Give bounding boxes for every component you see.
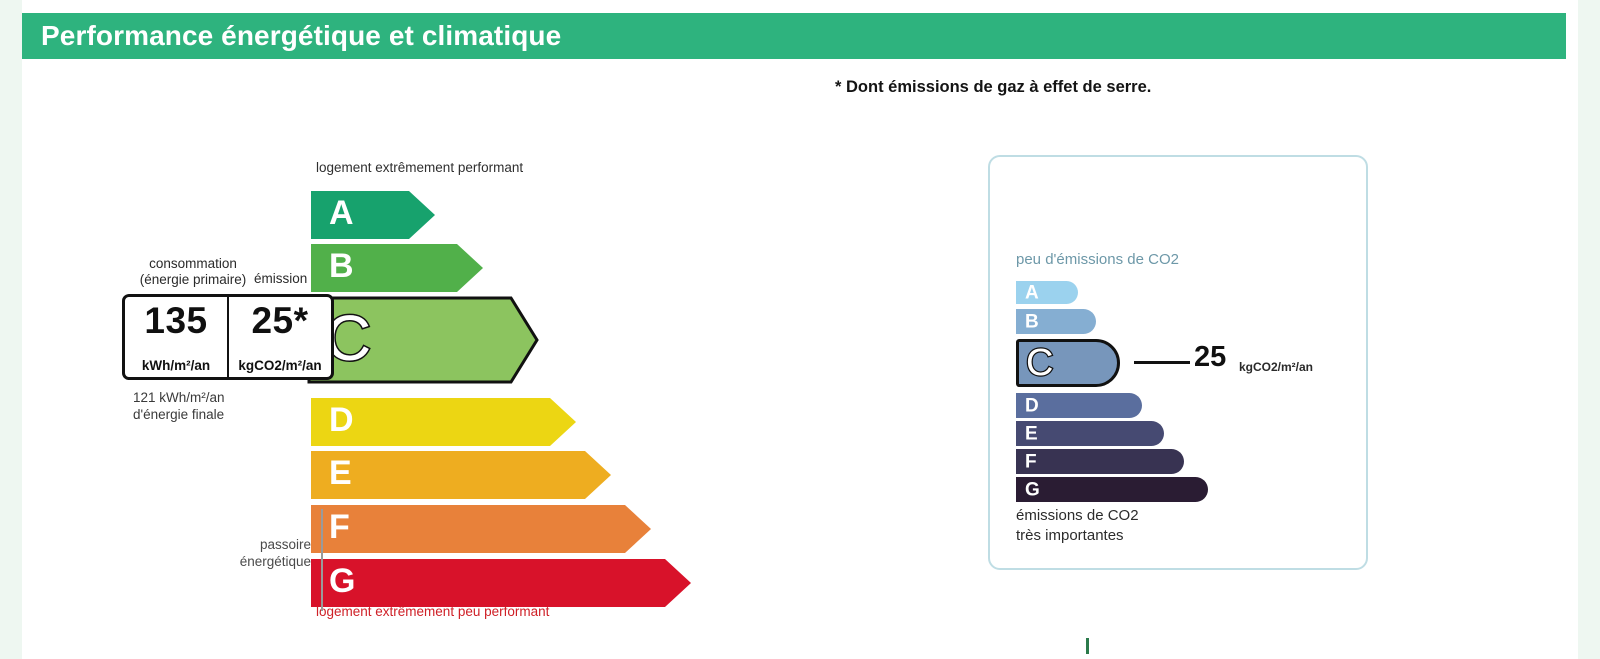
energy-band-e[interactable]: E	[309, 449, 609, 497]
primary-energy-cell: 135 kWh/m²/an	[125, 297, 227, 377]
bottom-mark	[1086, 638, 1089, 654]
ladder-caption-top: logement extrêmement performant	[316, 160, 523, 175]
co2-bar-letter-c: C	[1026, 344, 1053, 382]
passoire-bracket-line	[321, 509, 323, 611]
co2-bar-g[interactable]: G	[1016, 477, 1208, 502]
co2-bar-a[interactable]: A	[1016, 281, 1078, 304]
co2-caption-bottom: émissions de CO2 très importantes	[1016, 506, 1139, 545]
co2-caption-bottom-line1: émissions de CO2	[1016, 506, 1139, 526]
consumption-header: consommation (énergie primaire)	[128, 256, 258, 289]
co2-bar-letter-e: E	[1025, 424, 1038, 443]
energy-band-shape-b	[309, 242, 485, 294]
co2-bar-f[interactable]: F	[1016, 449, 1184, 474]
emission-unit: kgCO2/m²/an	[238, 358, 321, 373]
co2-bar-letter-d: D	[1025, 396, 1039, 415]
final-energy-line2: d'énergie finale	[133, 406, 225, 423]
passoire-label: passoire énergétique	[207, 536, 311, 571]
energy-band-f[interactable]: F	[309, 503, 649, 551]
co2-bar-letter-a: A	[1025, 283, 1039, 302]
energy-band-shape-g	[309, 557, 693, 609]
emission-header: émission	[254, 271, 307, 286]
energy-band-b[interactable]: B	[309, 242, 481, 290]
final-energy-line1: 121 kWh/m²/an	[133, 389, 225, 406]
energy-band-c[interactable]: C	[307, 296, 535, 380]
energy-band-shape-f	[309, 503, 653, 555]
ladder-caption-bottom: logement extrêmement peu performant	[316, 604, 549, 619]
passoire-label-line1: passoire	[207, 536, 311, 553]
energy-band-d[interactable]: D	[309, 396, 574, 444]
co2-bar-letter-g: G	[1025, 480, 1040, 499]
consumption-value-box: 135 kWh/m²/an 25* kgCO2/m²/an	[122, 294, 334, 380]
co2-bar-letter-f: F	[1025, 452, 1037, 471]
energy-band-a[interactable]: A	[309, 189, 433, 237]
emission-value: 25*	[251, 300, 308, 341]
energy-class-ladder: logement extrêmement performant ABCDEFG …	[22, 0, 782, 659]
final-energy-note: 121 kWh/m²/an d'énergie finale	[133, 389, 225, 424]
co2-caption-bottom-line2: très importantes	[1016, 526, 1139, 546]
dpe-sheet: Performance énergétique et climatique * …	[22, 0, 1578, 659]
co2-value-unit: kgCO2/m²/an	[1239, 360, 1313, 374]
co2-bar-b[interactable]: B	[1016, 309, 1096, 334]
co2-bar-letter-b: B	[1025, 312, 1039, 331]
co2-leader-line	[1134, 361, 1190, 364]
greenhouse-gas-footnote: * Dont émissions de gaz à effet de serre…	[835, 78, 1151, 97]
energy-band-shape-e	[309, 449, 613, 501]
consumption-header-line2: (énergie primaire)	[128, 272, 258, 288]
energy-band-shape-a	[309, 189, 437, 241]
energy-band-shape-d	[309, 396, 578, 448]
co2-caption-top: peu d'émissions de CO2	[1016, 251, 1179, 268]
primary-energy-unit: kWh/m²/an	[142, 358, 210, 373]
emission-value-cell: 25* kgCO2/m²/an	[227, 297, 331, 377]
primary-energy-value: 135	[144, 300, 207, 341]
co2-bar-c[interactable]: C	[1016, 339, 1120, 387]
co2-value: 25	[1194, 343, 1226, 372]
energy-band-g[interactable]: G	[309, 557, 689, 605]
consumption-header-line1: consommation	[128, 256, 258, 272]
energy-band-shape-c	[307, 296, 539, 384]
co2-bar-e[interactable]: E	[1016, 421, 1164, 446]
co2-bar-d[interactable]: D	[1016, 393, 1142, 418]
passoire-label-line2: énergétique	[207, 553, 311, 570]
